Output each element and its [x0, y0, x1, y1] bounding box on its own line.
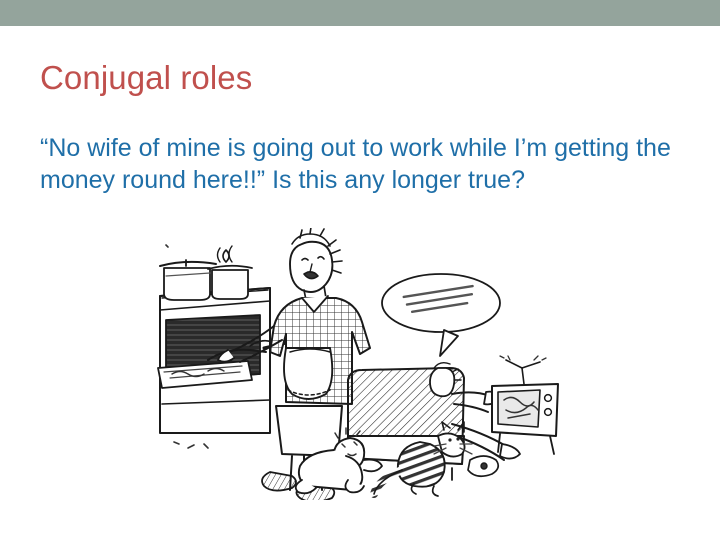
- slide-top-band: [0, 0, 720, 26]
- cartoon-illustration: [152, 228, 572, 500]
- slide: Conjugal roles “No wife of mine is going…: [0, 0, 720, 539]
- floor-toy: [468, 456, 498, 476]
- page-title: Conjugal roles: [40, 58, 252, 98]
- slide-body-text: “No wife of mine is going out to work wh…: [40, 133, 680, 196]
- cartoon-svg: [152, 228, 572, 500]
